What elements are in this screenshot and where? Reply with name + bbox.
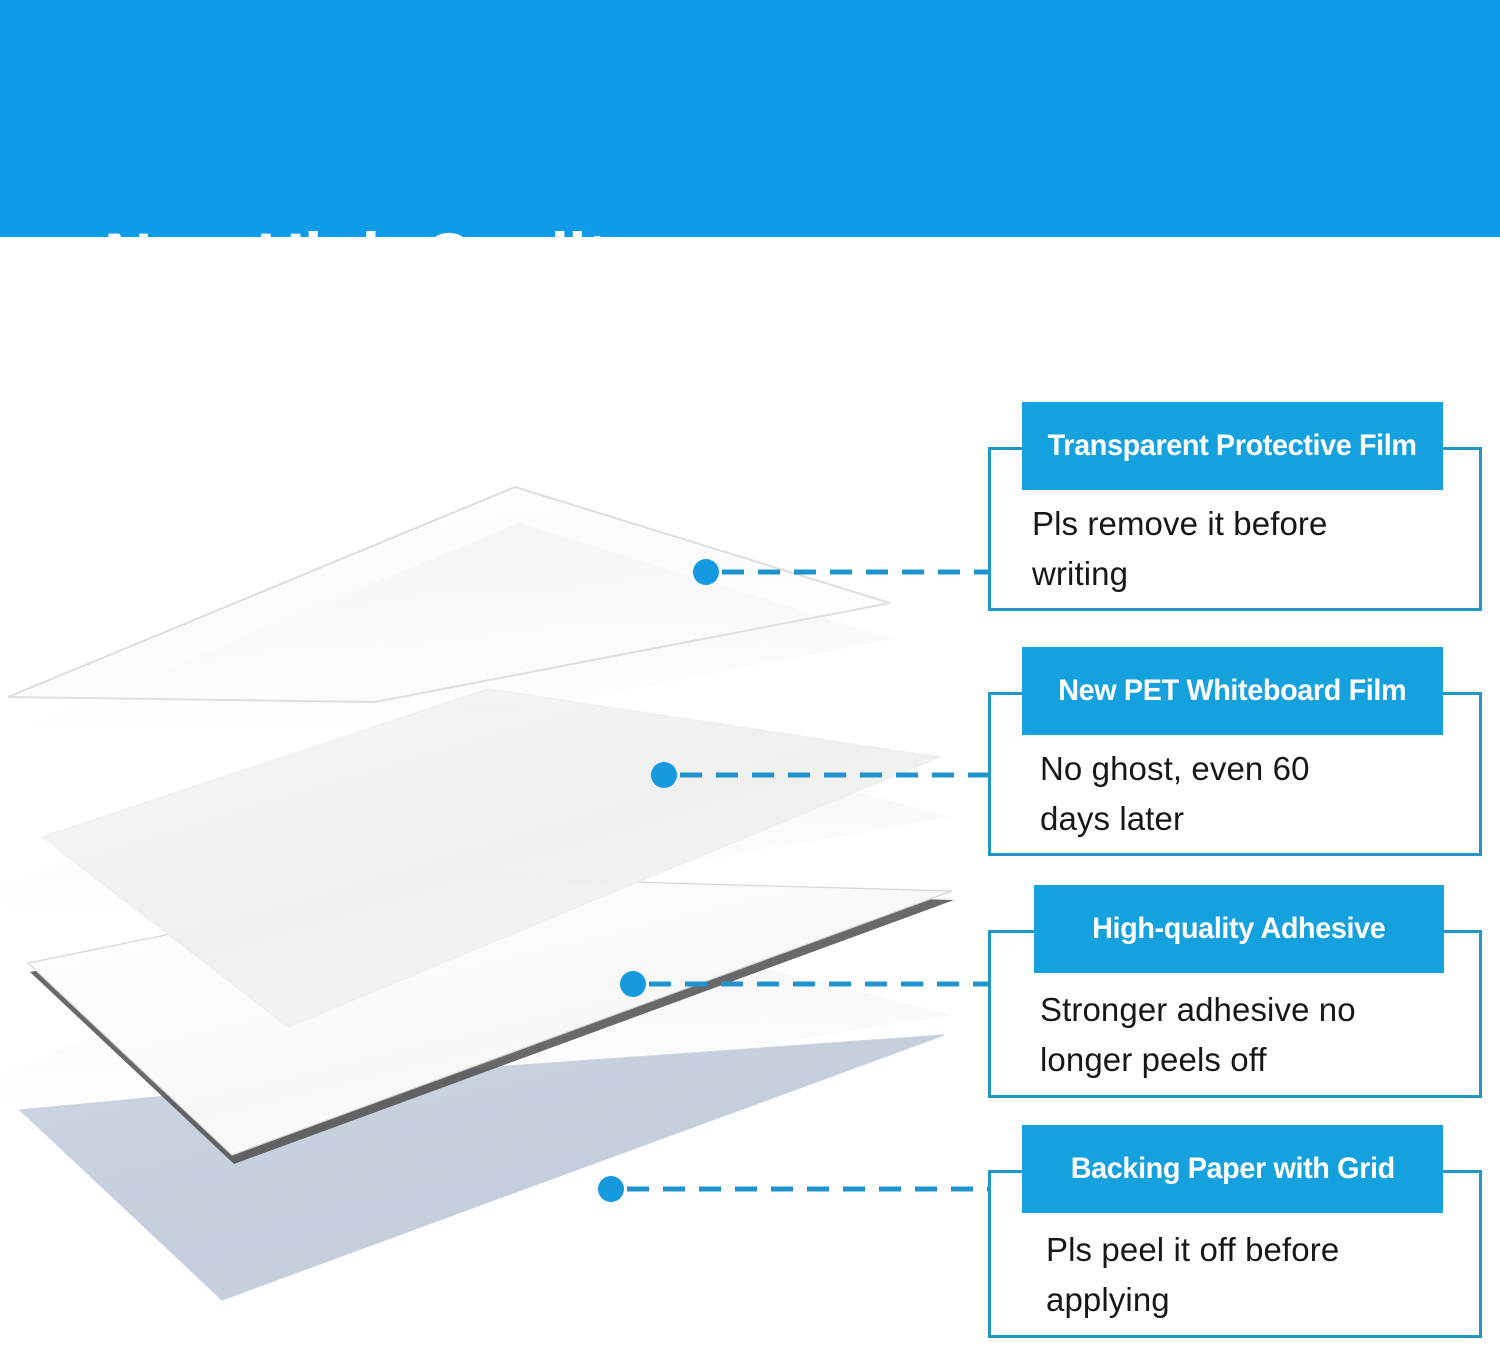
callout-chip-4: Backing Paper with Grid [1022,1125,1443,1213]
callout-body-2: No ghost, even 60 days later [1040,744,1470,844]
header-banner: New High-Quality NO GHOST Technology [0,0,1500,237]
callout-title-4: Backing Paper with Grid [1070,1154,1394,1184]
callout-title-3: High-quality Adhesive [1092,914,1385,944]
callout-high-quality-adhesive[interactable]: High-quality Adhesive Stronger adhesive … [988,930,1482,1098]
infographic-canvas: New High-Quality NO GHOST Technology [0,0,1500,1358]
callout-backing-paper-with-grid[interactable]: Backing Paper with Grid Pls peel it off … [988,1170,1482,1338]
callout-body-1: Pls remove it before writing [1032,499,1462,599]
callout-chip-3: High-quality Adhesive [1034,885,1444,973]
callout-chip-1: Transparent Protective Film [1022,402,1443,490]
callout-title-2: New PET Whiteboard Film [1059,676,1407,706]
sheet-protective-film [8,487,890,702]
callout-new-pet-whiteboard-film[interactable]: New PET Whiteboard Film No ghost, even 6… [988,692,1482,856]
layer-illustration [0,237,1000,1358]
callout-transparent-protective-film[interactable]: Transparent Protective Film Pls remove i… [988,447,1482,611]
callout-chip-2: New PET Whiteboard Film [1022,647,1443,735]
callout-body-4: Pls peel it off before applying [1046,1225,1476,1325]
callout-body-3: Stronger adhesive no longer peels off [1040,985,1470,1085]
callout-title-1: Transparent Protective Film [1048,431,1417,461]
